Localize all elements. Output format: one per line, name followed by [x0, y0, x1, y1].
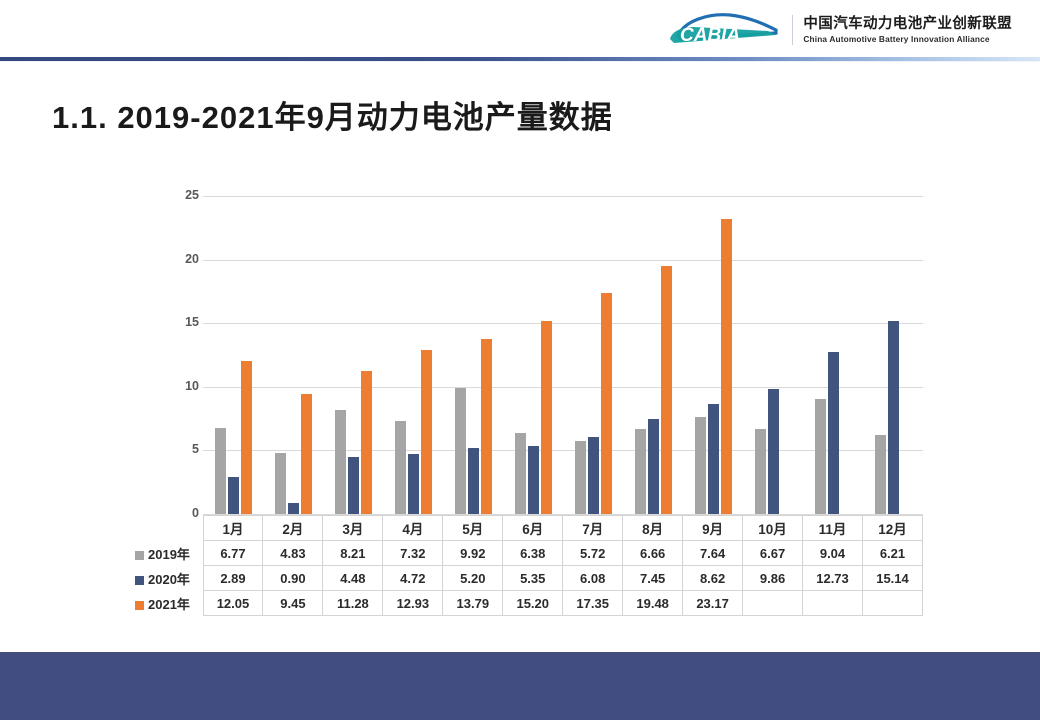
bar-2019年-9月 — [695, 417, 706, 514]
cell-2020年-12月: 15.14 — [862, 566, 922, 591]
bar-2019年-11月 — [815, 399, 826, 514]
y-tick-label-15: 15 — [139, 315, 199, 329]
cell-2020年-10月: 9.86 — [743, 566, 803, 591]
brand-name-cn: 中国汽车动力电池产业创新联盟 — [803, 17, 1012, 32]
cell-2019年-2月: 4.83 — [263, 541, 323, 566]
cell-2019年-11月: 9.04 — [803, 541, 863, 566]
bar-group-2月 — [263, 196, 323, 514]
cell-2021年-9月: 23.17 — [683, 591, 743, 616]
bar-group-12月 — [863, 196, 923, 514]
bar-2021年-1月 — [241, 361, 252, 514]
bar-group-9月 — [683, 196, 743, 514]
page-title: 1.1. 2019-2021年9月动力电池产量数据 — [52, 92, 613, 137]
bar-2020年-4月 — [408, 454, 419, 514]
cell-2021年-2月: 9.45 — [263, 591, 323, 616]
bar-group-8月 — [623, 196, 683, 514]
chart-bars — [203, 196, 923, 514]
series-legend-2020年: 2020年 — [133, 566, 203, 591]
bar-group-4月 — [383, 196, 443, 514]
column-header-10月: 10月 — [743, 516, 803, 541]
bar-2019年-1月 — [215, 428, 226, 514]
bar-2019年-6月 — [515, 433, 526, 514]
cell-2021年-7月: 17.35 — [563, 591, 623, 616]
cell-2020年-5月: 5.20 — [443, 566, 503, 591]
cell-2021年-3月: 11.28 — [323, 591, 383, 616]
bar-2019年-3月 — [335, 410, 346, 514]
cell-2021年-11月 — [803, 591, 863, 616]
legend-label: 2021年 — [148, 597, 190, 612]
column-header-6月: 6月 — [503, 516, 563, 541]
production-data-table: 1月2月3月4月5月6月7月8月9月10月11月12月2019年6.774.83… — [133, 515, 923, 616]
brand-name-en: China Automotive Battery Innovation Alli… — [803, 35, 1012, 43]
bar-2019年-8月 — [635, 429, 646, 514]
bar-group-5月 — [443, 196, 503, 514]
bar-2020年-2月 — [288, 503, 299, 514]
column-header-7月: 7月 — [563, 516, 623, 541]
column-header-5月: 5月 — [443, 516, 503, 541]
bar-2020年-11月 — [828, 352, 839, 514]
cell-2019年-12月: 6.21 — [862, 541, 922, 566]
cell-2019年-10月: 6.67 — [743, 541, 803, 566]
bar-2020年-9月 — [708, 404, 719, 514]
column-header-9月: 9月 — [683, 516, 743, 541]
brand-logo: CABIA 中国汽车动力电池产业创新联盟 China Automotive Ba… — [664, 8, 1012, 52]
production-bar-chart: 0510152025 — [133, 185, 923, 520]
cell-2020年-1月: 2.89 — [203, 566, 263, 591]
bar-group-10月 — [743, 196, 803, 514]
bar-group-6月 — [503, 196, 563, 514]
bar-2020年-7月 — [588, 437, 599, 514]
bar-2020年-1月 — [228, 477, 239, 514]
column-header-8月: 8月 — [623, 516, 683, 541]
bar-2020年-8月 — [648, 419, 659, 514]
bar-group-3月 — [323, 196, 383, 514]
y-tick-label-20: 20 — [139, 252, 199, 266]
slide-canvas: CABIA 中国汽车动力电池产业创新联盟 China Automotive Ba… — [0, 0, 1040, 720]
series-legend-2019年: 2019年 — [133, 541, 203, 566]
bar-2021年-7月 — [601, 293, 612, 514]
bar-2019年-7月 — [575, 441, 586, 514]
cell-2020年-2月: 0.90 — [263, 566, 323, 591]
column-header-3月: 3月 — [323, 516, 383, 541]
bar-group-1月 — [203, 196, 263, 514]
cell-2020年-7月: 6.08 — [563, 566, 623, 591]
cell-2020年-6月: 5.35 — [503, 566, 563, 591]
bar-2021年-5月 — [481, 339, 492, 514]
table-header-row: 1月2月3月4月5月6月7月8月9月10月11月12月 — [133, 516, 923, 541]
bar-2020年-10月 — [768, 389, 779, 514]
table-row: 2020年2.890.904.484.725.205.356.087.458.6… — [133, 566, 923, 591]
legend-swatch-icon — [135, 551, 144, 560]
brand-text: 中国汽车动力电池产业创新联盟 China Automotive Battery … — [803, 17, 1012, 44]
bar-2021年-3月 — [361, 371, 372, 514]
column-header-12月: 12月 — [862, 516, 922, 541]
cell-2019年-5月: 9.92 — [443, 541, 503, 566]
bar-2019年-10月 — [755, 429, 766, 514]
bar-2021年-8月 — [661, 266, 672, 514]
cell-2019年-9月: 7.64 — [683, 541, 743, 566]
bar-2019年-5月 — [455, 388, 466, 514]
cell-2021年-1月: 12.05 — [203, 591, 263, 616]
column-header-1月: 1月 — [203, 516, 263, 541]
bar-group-11月 — [803, 196, 863, 514]
cell-2021年-8月: 19.48 — [623, 591, 683, 616]
cell-2020年-3月: 4.48 — [323, 566, 383, 591]
bar-2021年-6月 — [541, 321, 552, 514]
series-legend-2021年: 2021年 — [133, 591, 203, 616]
chart-plot-area: 0510152025 — [203, 196, 923, 514]
y-tick-label-5: 5 — [139, 442, 199, 456]
column-header-4月: 4月 — [383, 516, 443, 541]
cell-2019年-8月: 6.66 — [623, 541, 683, 566]
table-row: 2019年6.774.838.217.329.926.385.726.667.6… — [133, 541, 923, 566]
bar-group-7月 — [563, 196, 623, 514]
bar-2019年-2月 — [275, 453, 286, 514]
legend-label: 2019年 — [148, 547, 190, 562]
cell-2020年-9月: 8.62 — [683, 566, 743, 591]
bar-2021年-4月 — [421, 350, 432, 514]
bar-2020年-3月 — [348, 457, 359, 514]
legend-swatch-icon — [135, 576, 144, 585]
cell-2021年-12月 — [862, 591, 922, 616]
bar-2019年-4月 — [395, 421, 406, 514]
column-header-2月: 2月 — [263, 516, 323, 541]
cell-2021年-6月: 15.20 — [503, 591, 563, 616]
header-rule-shadow — [0, 61, 1040, 62]
table-corner-cell — [133, 516, 203, 541]
legend-label: 2020年 — [148, 572, 190, 587]
bar-2020年-6月 — [528, 446, 539, 514]
cell-2019年-7月: 5.72 — [563, 541, 623, 566]
cell-2019年-1月: 6.77 — [203, 541, 263, 566]
svg-text:CABIA: CABIA — [680, 25, 740, 46]
bar-2019年-12月 — [875, 435, 886, 514]
cell-2020年-8月: 7.45 — [623, 566, 683, 591]
y-tick-label-10: 10 — [139, 379, 199, 393]
table-row: 2021年12.059.4511.2812.9313.7915.2017.351… — [133, 591, 923, 616]
cell-2021年-5月: 13.79 — [443, 591, 503, 616]
bar-2020年-5月 — [468, 448, 479, 514]
logo-divider — [792, 15, 793, 45]
slide-footer-band — [0, 652, 1040, 720]
bar-2020年-12月 — [888, 321, 899, 514]
cell-2019年-6月: 6.38 — [503, 541, 563, 566]
cabia-logo-icon: CABIA — [664, 9, 782, 51]
cell-2020年-11月: 12.73 — [803, 566, 863, 591]
legend-swatch-icon — [135, 601, 144, 610]
cell-2020年-4月: 4.72 — [383, 566, 443, 591]
cell-2019年-4月: 7.32 — [383, 541, 443, 566]
slide-header: CABIA 中国汽车动力电池产业创新联盟 China Automotive Ba… — [0, 0, 1040, 58]
y-tick-label-25: 25 — [139, 188, 199, 202]
cell-2021年-4月: 12.93 — [383, 591, 443, 616]
cell-2021年-10月 — [743, 591, 803, 616]
bar-2021年-2月 — [301, 394, 312, 514]
bar-2021年-9月 — [721, 219, 732, 514]
column-header-11月: 11月 — [803, 516, 863, 541]
cell-2019年-3月: 8.21 — [323, 541, 383, 566]
